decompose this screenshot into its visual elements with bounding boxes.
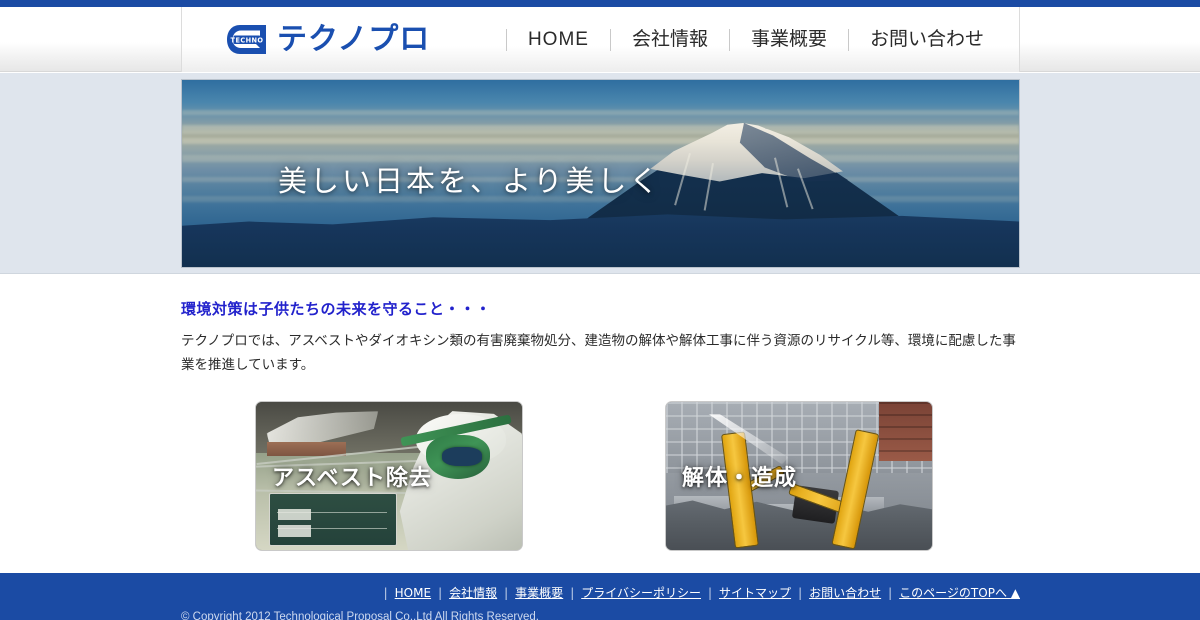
svg-text:TECHNO: TECHNO [231,36,264,44]
top-accent-bar [0,0,1200,7]
nav-item-home[interactable]: HOME [507,30,610,49]
footer-divider: | [791,586,809,600]
nav-item-company-info[interactable]: 会社情報 [611,30,729,49]
site-footer: | HOME | 会社情報 | 事業概要 | プライバシーポリシー | サイトマ… [0,573,1200,620]
footer-divider: | [377,586,395,600]
service-card-label-demolition: 解体・造成 [682,460,797,492]
footer-divider: | [881,586,899,600]
main-content: 環境対策は子供たちの未来を守ること・・・ テクノプロでは、アスベストやダイオキシ… [0,274,1200,573]
footer-divider: | [497,586,515,600]
asbestos-site-signboard [269,493,397,546]
copyright-notice: © Copyright 2012 Technological Proposal … [181,611,539,620]
signboard-label-tag [278,509,311,520]
logo-wordmark: テクノプロ [277,25,430,55]
footer-link-company-info[interactable]: 会社情報 [449,584,497,601]
footer-link-business-overview[interactable]: 事業概要 [515,584,563,601]
footer-link-list: | HOME | 会社情報 | 事業概要 | プライバシーポリシー | サイトマ… [377,584,1020,601]
asbestos-brick-wall [267,442,347,455]
footer-link-home[interactable]: HOME [395,586,431,600]
hero-banner-image: 美しい日本を、より美しく [181,79,1020,268]
demolition-adjacent-building [879,402,932,461]
signboard-label-tag [278,525,311,536]
service-card-list: アスベスト除去 解体・造成 [181,401,1020,551]
footer-link-privacy-policy[interactable]: プライバシーポリシー [581,584,701,601]
site-logo[interactable]: TECHNO テクノプロ [226,20,430,60]
service-card-label-asbestos: アスベスト除去 [272,460,432,492]
lead-heading: 環境対策は子供たちの未来を守ること・・・ [181,298,1020,319]
page-root: TECHNO テクノプロ HOME 会社情報 事業概要 お問い合わせ [0,0,1200,620]
footer-divider: | [701,586,719,600]
service-card-asbestos-removal[interactable]: アスベスト除去 [255,401,523,551]
main-navigation: HOME 会社情報 事業概要 お問い合わせ [506,20,1005,60]
footer-divider: | [431,586,449,600]
footer-divider: | [563,586,581,600]
hero-caption: 美しい日本を、より美しく [278,158,661,200]
footer-link-back-to-top[interactable]: このページのTOPへ ▲ [899,584,1020,601]
nav-item-contact[interactable]: お問い合わせ [849,30,1005,49]
lead-paragraph: テクノプロでは、アスベストやダイオキシン類の有害廃棄物処分、建造物の解体や解体工… [181,330,1021,377]
site-header: TECHNO テクノプロ HOME 会社情報 事業概要 お問い合わせ [181,7,1020,72]
nav-item-business-overview[interactable]: 事業概要 [730,30,848,49]
footer-link-sitemap[interactable]: サイトマップ [719,584,791,601]
footer-link-contact[interactable]: お問い合わせ [809,584,881,601]
hero-cloud-band [182,110,1019,115]
asbestos-mask-lens [442,447,482,466]
logo-q-mark-icon: TECHNO [226,24,270,56]
content-column: 環境対策は子供たちの未来を守ること・・・ テクノプロでは、アスベストやダイオキシ… [181,274,1020,551]
service-card-demolition[interactable]: 解体・造成 [665,401,933,551]
